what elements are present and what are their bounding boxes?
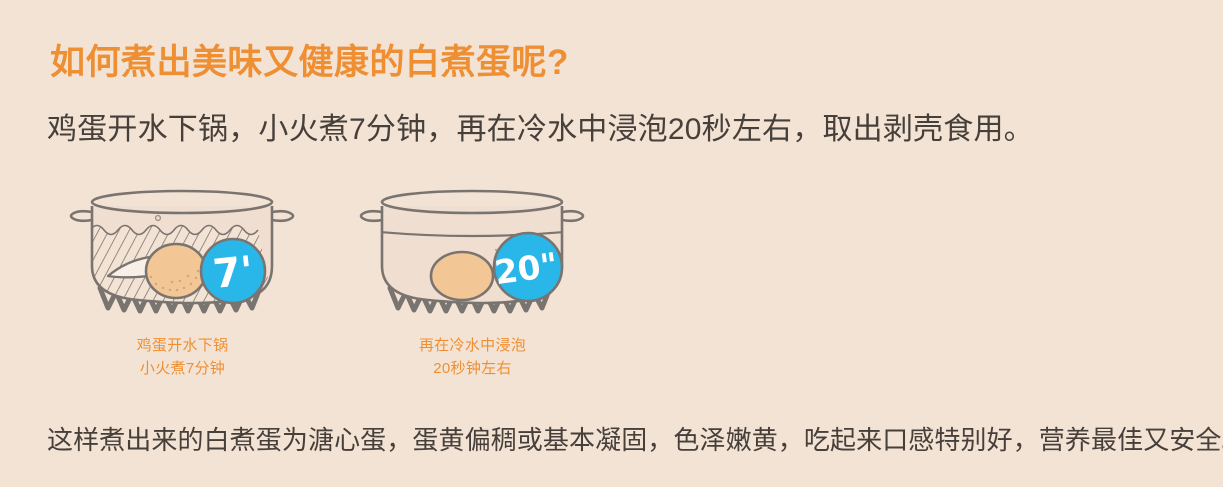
timer-badge-cool: 20" xyxy=(492,233,562,301)
step-cool: 20" 再在冷水中浸泡 20秒钟左右 xyxy=(350,168,650,388)
step-cool-caption: 再在冷水中浸泡 20秒钟左右 xyxy=(350,334,595,381)
egg-icon xyxy=(146,244,206,298)
step-boil: 7' 鸡蛋开水下锅 小火煮7分钟 xyxy=(60,168,360,388)
step-cool-caption-line2: 20秒钟左右 xyxy=(350,357,595,380)
pot-cold-water-illustration: 20" xyxy=(350,168,650,318)
footer-note: 这样煮出来的白煮蛋为溏心蛋，蛋黄偏稠或基本凝固，色泽嫩黄，吃起来口感特别好，营养… xyxy=(47,420,1223,457)
timer-badge-boil: 7' xyxy=(201,239,265,303)
page-title: 如何煮出美味又健康的白煮蛋呢? xyxy=(50,42,569,84)
step-cool-caption-line1: 再在冷水中浸泡 xyxy=(350,334,595,357)
lead-paragraph: 鸡蛋开水下锅，小火煮7分钟，再在冷水中浸泡20秒左右，取出剥壳食用。 xyxy=(47,110,1034,149)
timer-badge-boil-label: 7' xyxy=(211,248,256,298)
step-boil-caption-line2: 小火煮7分钟 xyxy=(60,357,305,380)
infographic-page: 如何煮出美味又健康的白煮蛋呢? 鸡蛋开水下锅，小火煮7分钟，再在冷水中浸泡20秒… xyxy=(0,0,1223,487)
steps-row: 7' 鸡蛋开水下锅 小火煮7分钟 xyxy=(0,168,1223,388)
egg-icon xyxy=(431,252,493,300)
step-boil-caption-line1: 鸡蛋开水下锅 xyxy=(60,334,305,357)
pot-boiling-illustration: 7' xyxy=(60,168,360,318)
step-boil-caption: 鸡蛋开水下锅 小火煮7分钟 xyxy=(60,334,305,381)
